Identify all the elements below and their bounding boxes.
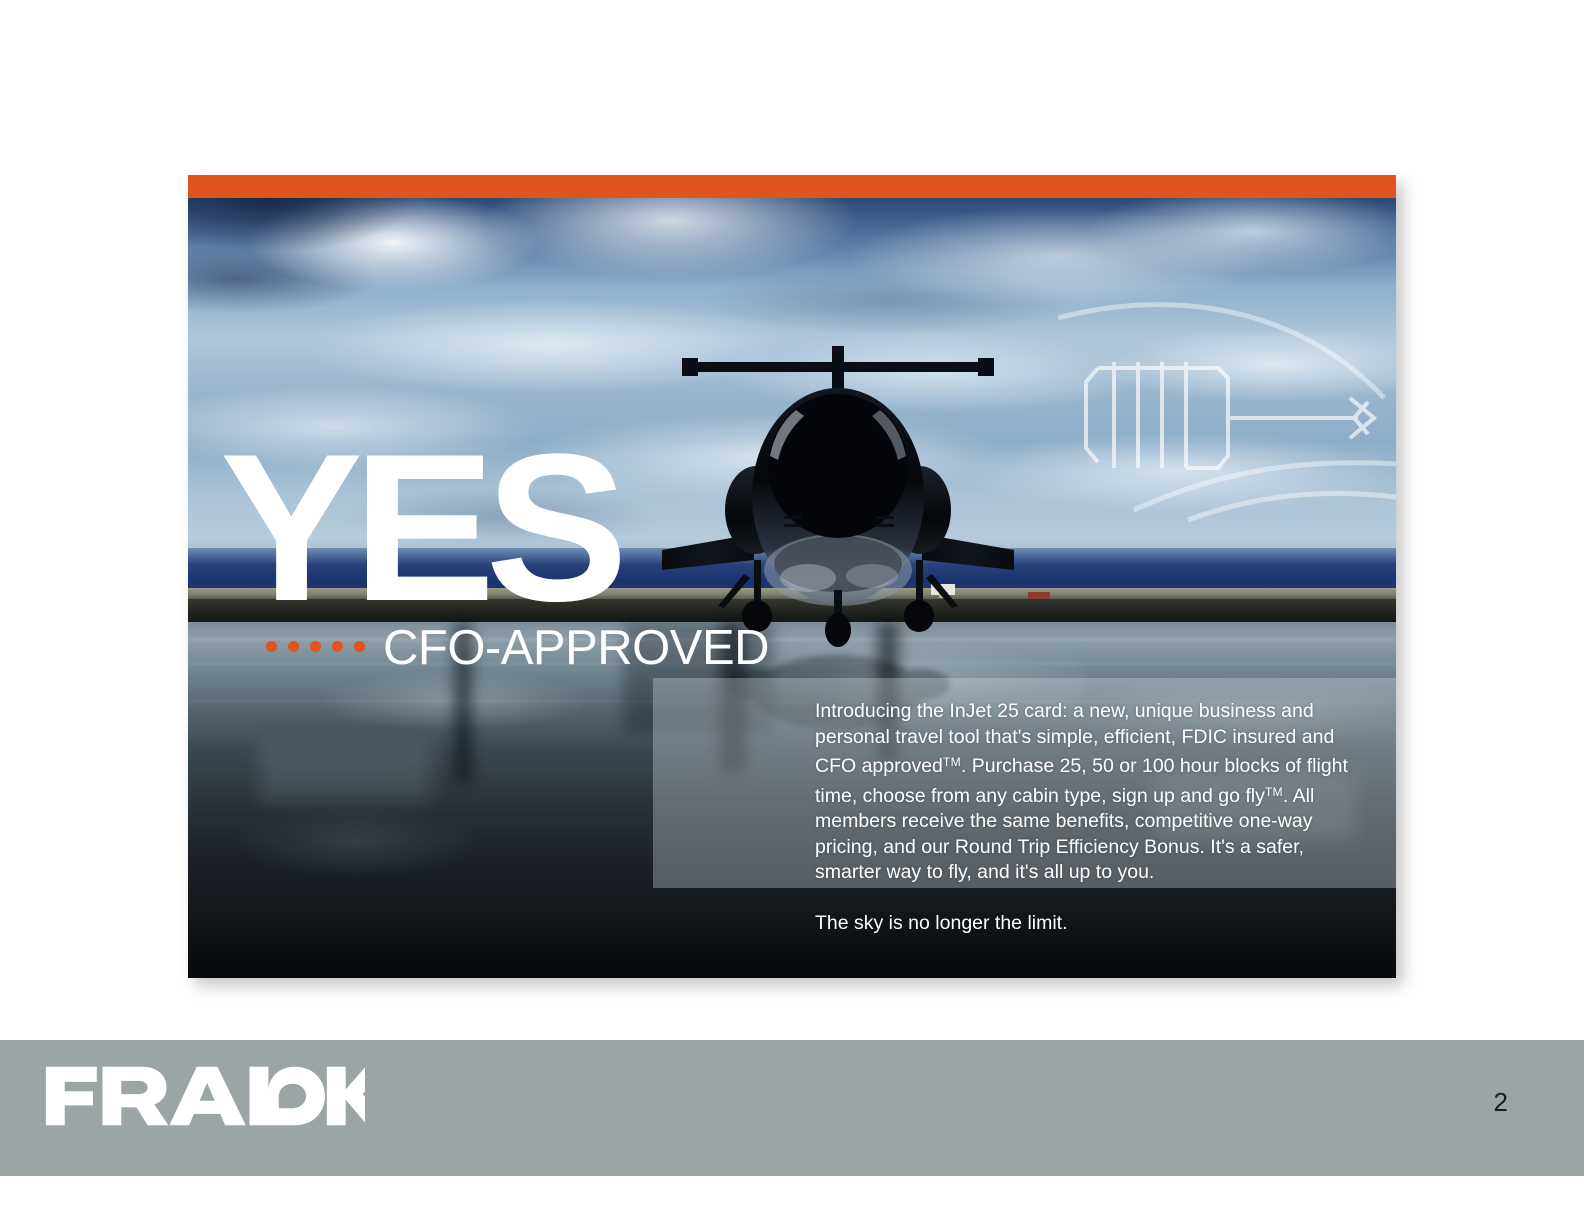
trademark-symbol: TM [1265,785,1283,799]
distant-vehicle-icon [1028,592,1050,599]
page-number: 2 [1494,1087,1508,1118]
body-paragraph-2: The sky is no longer the limit. [815,911,1360,937]
headline-yes: YES [220,444,780,612]
top-accent-bar [188,175,1396,198]
body-copy: Introducing the InJet 25 card: a new, un… [815,699,1360,936]
frank-brand-logo [44,1063,365,1129]
sky-dark-cloud [188,198,502,288]
body-paragraph-1: Introducing the InJet 25 card: a new, un… [815,699,1360,886]
trademark-symbol: TM [943,755,961,769]
tarmac-reflection-highlight [260,742,430,802]
headline-block: YES CFO-APPROVED [220,444,769,676]
slide-canvas: YES CFO-APPROVED Introducing the InJet 2… [188,175,1396,978]
slide-photograph: YES CFO-APPROVED Introducing the InJet 2… [188,198,1396,978]
